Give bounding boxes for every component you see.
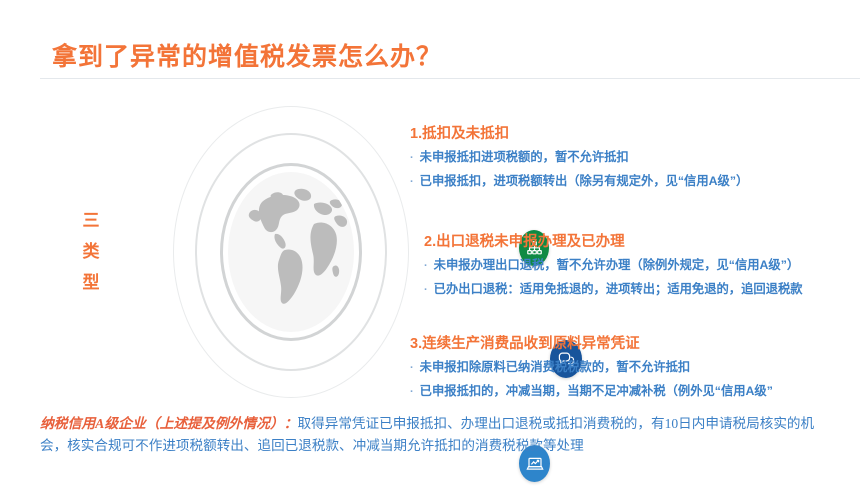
section-consumption-tax: 3.连续生产消费品收到原料异常凭证 · 未申报扣除原料已纳消费税税款的，暂不允许… xyxy=(410,332,773,404)
type-label-char-1: 三 xyxy=(78,205,104,236)
bullet-dot-icon: · xyxy=(410,171,414,194)
globe-icon xyxy=(228,172,354,332)
type-label: 三 类 型 xyxy=(78,205,104,298)
section-1-bullet-1: · 未申报抵扣进项税额的，暂不允许抵扣 xyxy=(410,146,748,170)
type-label-char-2: 类 xyxy=(78,236,104,267)
bullet-dot-icon: · xyxy=(424,279,428,302)
section-3-bullet-1: · 未申报扣除原料已纳消费税税款的，暂不允许抵扣 xyxy=(410,356,773,380)
section-2-heading: 2.出口退税未申报办理及已办理 xyxy=(424,230,803,251)
section-1-bullet-1-text: 未申报抵扣进项税额的，暂不允许抵扣 xyxy=(420,146,629,169)
type-label-char-3: 型 xyxy=(78,267,104,298)
section-3-heading: 3.连续生产消费品收到原料异常凭证 xyxy=(410,332,773,353)
footer-note-label: 纳税信用A级企业（上述提及例外情况）： xyxy=(40,416,298,431)
section-2-bullet-2: · 已办出口退税：适用免抵退的，进项转出；适用免退的，追回退税款 xyxy=(424,278,803,302)
section-1-heading: 1.抵扣及未抵扣 xyxy=(410,122,748,143)
footer-note: 纳税信用A级企业（上述提及例外情况）：取得异常凭证已申报抵扣、办理出口退税或抵扣… xyxy=(40,413,840,457)
section-2-bullet-2-text: 已办出口退税：适用免抵退的，进项转出；适用免退的，追回退税款 xyxy=(434,278,803,301)
bullet-dot-icon: · xyxy=(424,255,428,278)
section-3-bullet-1-text: 未申报扣除原料已纳消费税税款的，暂不允许抵扣 xyxy=(420,356,691,379)
bullet-dot-icon: · xyxy=(410,147,414,170)
page-title: 拿到了异常的增值税发票怎么办？ xyxy=(52,37,442,73)
bullet-dot-icon: · xyxy=(410,357,414,380)
section-deduction: 1.抵扣及未抵扣 · 未申报抵扣进项税额的，暂不允许抵扣 · 已申报抵扣，进项税… xyxy=(410,122,748,194)
title-divider xyxy=(40,78,860,79)
section-3-bullet-2-text: 已申报抵扣的，冲减当期，当期不足冲减补税（例外见“信用A级” xyxy=(420,380,773,403)
globe-graphic xyxy=(168,100,418,405)
section-2-bullet-1-text: 未申报办理出口退税，暂不允许办理（除例外规定，见“信用A级”） xyxy=(434,254,800,277)
section-3-bullet-2: · 已申报抵扣的，冲减当期，当期不足冲减补税（例外见“信用A级” xyxy=(410,380,773,404)
section-export-refund: 2.出口退税未申报办理及已办理 · 未申报办理出口退税，暂不允许办理（除例外规定… xyxy=(424,230,803,302)
bullet-dot-icon: · xyxy=(410,381,414,404)
section-1-bullet-2-text: 已申报抵扣，进项税额转出（除另有规定外，见“信用A级”） xyxy=(420,170,749,193)
section-2-bullet-1: · 未申报办理出口退税，暂不允许办理（除例外规定，见“信用A级”） xyxy=(424,254,803,278)
laptop-chart-icon xyxy=(526,455,544,473)
section-1-bullet-2: · 已申报抵扣，进项税额转出（除另有规定外，见“信用A级”） xyxy=(410,170,748,194)
